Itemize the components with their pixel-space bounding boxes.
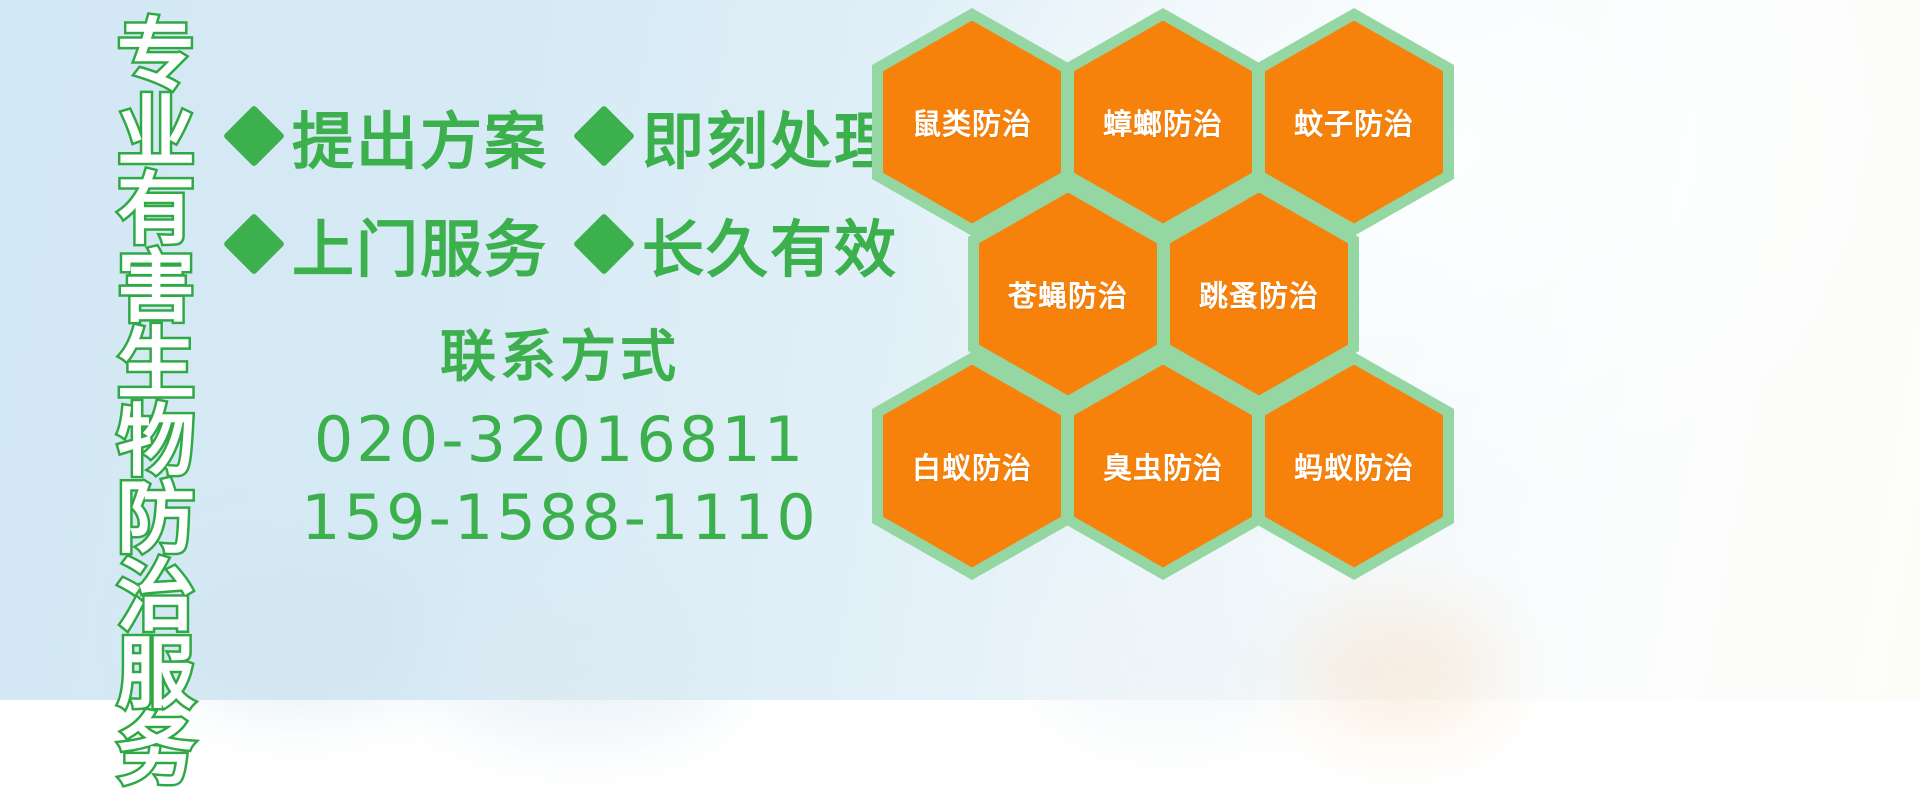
service-hexagon-grid: 鼠类防治 蟑螂防治 蚊子防治 苍蝇防治 跳蚤防治 白蚁防治 [850,0,1490,700]
background-blur-blob [170,560,430,710]
feature-label: 提出方案 [292,91,548,181]
headline-char: 专 [117,18,195,95]
diamond-icon [223,213,285,275]
hexagon-inner: 蚂蚁防治 [1265,365,1443,568]
headline-char: 治 [117,559,195,636]
service-label: 跳蚤防治 [1199,273,1319,315]
service-label: 蟑螂防治 [1103,101,1223,143]
hexagon-inner: 蚊子防治 [1265,21,1443,224]
feature-row: 提出方案 即刻处理 [232,82,872,190]
headline-char: 物 [117,404,195,481]
feature-item: 提出方案 [232,91,548,181]
background-blur-blob [430,600,730,740]
hexagon-inner: 白蚁防治 [883,365,1061,568]
phone-number-mobile[interactable]: 159-1588-1110 [250,479,870,557]
service-label: 白蚁防治 [912,445,1032,487]
service-label: 臭虫防治 [1103,445,1223,487]
headline-char: 生 [117,327,195,404]
diamond-icon [573,105,635,167]
headline-char: 服 [117,636,195,713]
service-label: 鼠类防治 [912,101,1032,143]
hexagon-inner: 苍蝇防治 [979,193,1157,396]
diamond-icon [573,213,635,275]
service-label: 苍蝇防治 [1008,273,1128,315]
pest-control-banner: 专 业 有 害 生 物 防 治 服 务 提出方案 即刻处理 上门服务 [0,0,1920,700]
hexagon-inner: 鼠类防治 [883,21,1061,224]
vertical-headline: 专 业 有 害 生 物 防 治 服 务 [104,18,208,790]
hexagon-inner: 跳蚤防治 [1170,193,1348,396]
contact-block: 联系方式 020-32016811 159-1588-1110 [250,312,870,557]
feature-label: 上门服务 [292,199,548,289]
headline-char: 有 [117,172,195,249]
hexagon-inner: 蟑螂防治 [1074,21,1252,224]
headline-char: 务 [117,713,195,790]
feature-list: 提出方案 即刻处理 上门服务 长久有效 [232,82,872,298]
headline-char: 业 [117,95,195,172]
service-label: 蚊子防治 [1294,101,1414,143]
feature-row: 上门服务 长久有效 [232,190,872,298]
headline-char: 防 [117,481,195,558]
phone-number-landline[interactable]: 020-32016811 [250,401,870,479]
hexagon-inner: 臭虫防治 [1074,365,1252,568]
diamond-icon [223,105,285,167]
headline-char: 害 [117,250,195,327]
contact-title: 联系方式 [250,312,870,393]
service-label: 蚂蚁防治 [1294,445,1414,487]
feature-item: 上门服务 [232,199,548,289]
